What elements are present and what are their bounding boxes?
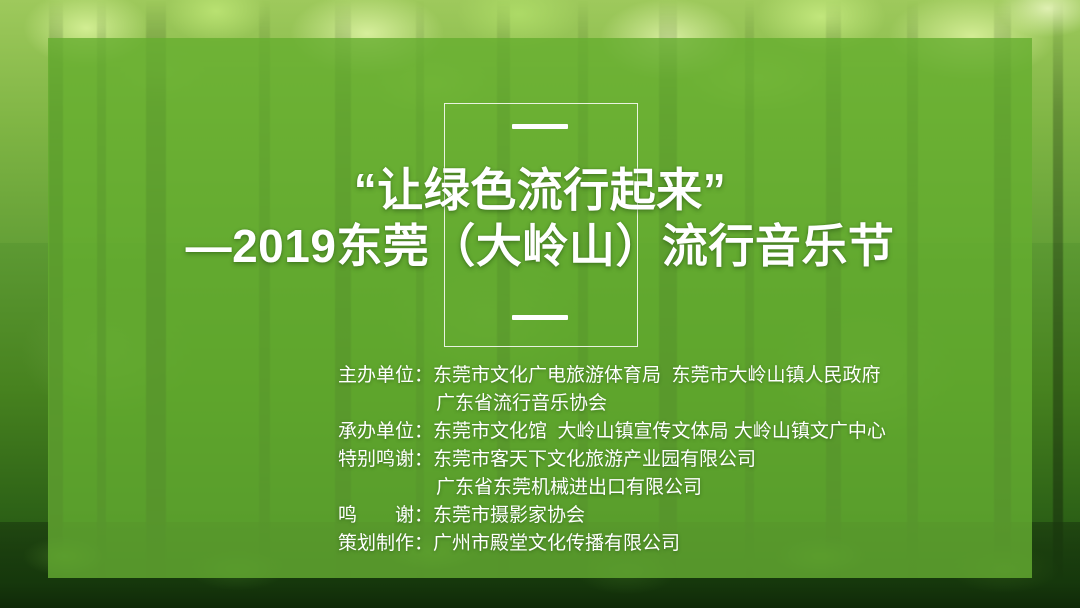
- credit-line-3: 特别鸣谢：东莞市客天下文化旅游产业园有限公司: [338, 446, 886, 474]
- credit-line-0: 主办单位：东莞市文化广电旅游体育局 东莞市大岭山镇人民政府: [338, 362, 886, 390]
- poster-title: “让绿色流行起来” —2019东莞（大岭山）流行音乐节: [0, 162, 1080, 274]
- credit-line-2: 承办单位：东莞市文化馆 大岭山镇宣传文体局 大岭山镇文广中心: [338, 418, 886, 446]
- credit-line-6: 策划制作：广州市殿堂文化传播有限公司: [338, 530, 886, 558]
- title-line-1: “让绿色流行起来”: [0, 162, 1080, 218]
- bottom-dash-icon: [512, 315, 568, 320]
- credit-line-4: 广东省东莞机械进出口有限公司: [338, 474, 886, 502]
- credit-line-1: 广东省流行音乐协会: [338, 390, 886, 418]
- tree-trunk-13: [1053, 0, 1063, 608]
- credit-line-5: 鸣 谢：东莞市摄影家协会: [338, 502, 886, 530]
- top-dash-icon: [512, 124, 568, 129]
- title-line-2: —2019东莞（大岭山）流行音乐节: [0, 218, 1080, 274]
- poster-root: “让绿色流行起来” —2019东莞（大岭山）流行音乐节 主办单位：东莞市文化广电…: [0, 0, 1080, 608]
- credits-block: 主办单位：东莞市文化广电旅游体育局 东莞市大岭山镇人民政府广东省流行音乐协会承办…: [338, 362, 886, 558]
